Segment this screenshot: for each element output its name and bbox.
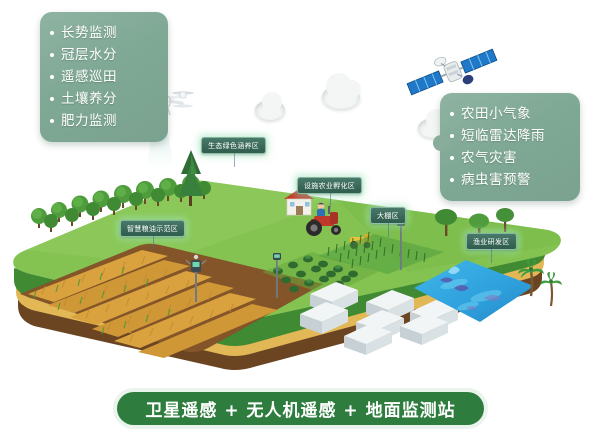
illustration-canvas: 生态绿色涵养区 智慧粮油示范区 设施农业孵化区 大棚区 渔业研发区 长势监测 冠… [0, 0, 600, 442]
bullet-icon [50, 53, 54, 57]
zone-label-eco-green-conservation[interactable]: 生态绿色涵养区 [201, 137, 266, 154]
bullet-icon [450, 112, 454, 116]
panel-left-list: 长势监测 冠层水分 遥感巡田 土壤养分 肥力监测 [50, 22, 156, 132]
panel-left-item[interactable]: 冠层水分 [50, 44, 156, 66]
panel-right-item-label: 农气灾害 [461, 147, 517, 169]
palm-tree-icon [539, 272, 563, 308]
panel-right-item[interactable]: 农田小气象 [450, 103, 568, 125]
panel-left-item-label: 遥感巡田 [61, 66, 117, 88]
remote-sensing-monitoring-panel[interactable]: 长势监测 冠层水分 遥感巡田 土壤养分 肥力监测 [40, 12, 168, 142]
bullet-icon [50, 31, 54, 35]
bullet-icon [50, 75, 54, 79]
bullet-icon [50, 119, 54, 123]
panel-left-item-label: 长势监测 [61, 22, 117, 44]
panel-left-item[interactable]: 长势监测 [50, 22, 156, 44]
monitoring-pole-icon [272, 250, 282, 300]
bullet-icon [50, 97, 54, 101]
panel-right-item[interactable]: 农气灾害 [450, 147, 568, 169]
panel-right-list: 农田小气象 短临雷达降雨 农气灾害 病虫害预警 [450, 103, 568, 191]
monitoring-pole-icon [396, 216, 406, 272]
weather-monitoring-panel[interactable]: 农田小气象 短临雷达降雨 农气灾害 病虫害预警 [440, 93, 580, 201]
bullet-icon [450, 178, 454, 182]
zone-label-greenhouse-zone[interactable]: 大棚区 [370, 207, 406, 224]
ground-monitoring-station-icon [188, 254, 204, 304]
zone-label-facility-agri-incubator[interactable]: 设施农业孵化区 [297, 177, 362, 194]
zone-label-fishery-rnd-zone[interactable]: 渔业研发区 [466, 233, 517, 250]
summary-banner: 卫星遥感 + 无人机遥感 + 地面监测站 [113, 388, 488, 429]
panel-left-item[interactable]: 肥力监测 [50, 110, 156, 132]
conifer-tree-icon [176, 148, 206, 208]
cloud-icon [255, 100, 285, 120]
bullet-icon [450, 156, 454, 160]
panel-left-item[interactable]: 遥感巡田 [50, 66, 156, 88]
zone-label-smart-grain-oil-demo[interactable]: 智慧粮油示范区 [120, 220, 185, 237]
panel-right-item-label: 农田小气象 [461, 103, 531, 125]
summary-banner-text: 卫星遥感 + 无人机遥感 + 地面监测站 [117, 392, 484, 425]
panel-left-item-label: 土壤养分 [61, 88, 117, 110]
cloud-icon [322, 85, 360, 109]
panel-left-item-label: 肥力监测 [61, 110, 117, 132]
panel-right-item-label: 病虫害预警 [461, 169, 531, 191]
panel-right-item-label: 短临雷达降雨 [461, 125, 545, 147]
panel-right-item[interactable]: 病虫害预警 [450, 169, 568, 191]
panel-right-item[interactable]: 短临雷达降雨 [450, 125, 568, 147]
panel-left-item-label: 冠层水分 [61, 44, 117, 66]
panel-left-item[interactable]: 土壤养分 [50, 88, 156, 110]
